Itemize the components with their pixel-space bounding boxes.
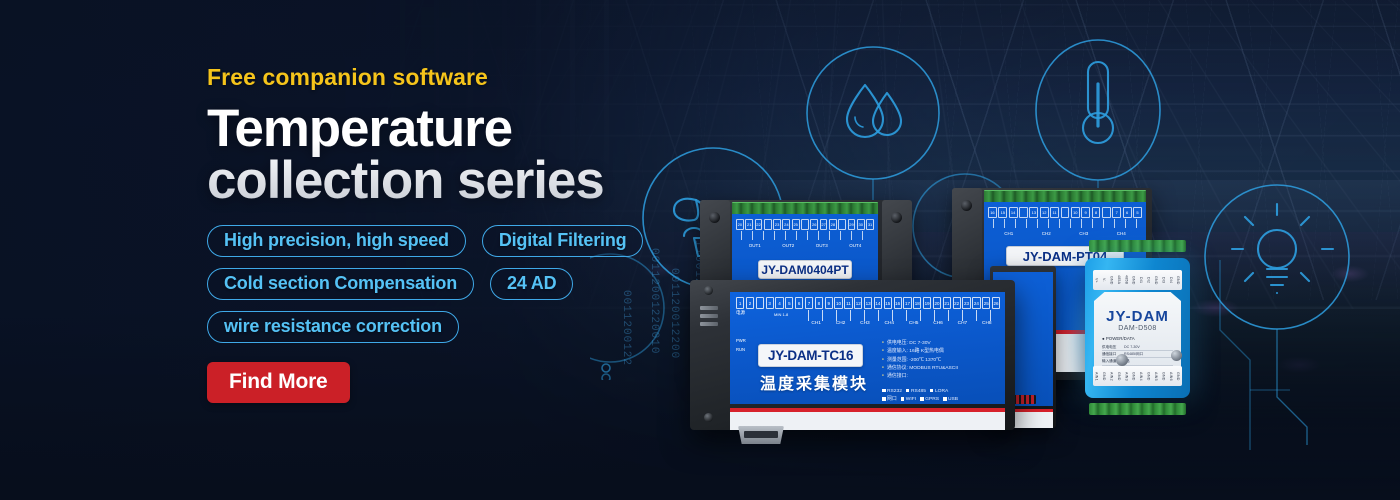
page-title: Temperature collection series [207, 103, 677, 207]
module-blue-faceplate: 1234567891011121314151617181920212223242… [730, 292, 1005, 404]
spec-key-4: 通信接口: [887, 374, 908, 379]
find-more-button[interactable]: Find More [207, 362, 350, 403]
spec-key-2: 测量范围: [887, 358, 908, 363]
module-indicator-labels: PWRRUN [736, 336, 746, 354]
spec-val-1: 16路 K型热电偶 [909, 349, 944, 354]
feature-tag-high-precision[interactable]: High precision, high speed [207, 225, 466, 257]
module-dam-tc16: 1234567891011121314151617181920212223242… [690, 280, 1015, 430]
module-db9-connector [738, 426, 784, 444]
module-channel-labels: CH1CH2CH3CH4 [990, 229, 1140, 237]
feature-tag-list: High precision, high speed Digital Filte… [207, 225, 677, 343]
headline-line-2: collection series [207, 155, 677, 207]
module-power-label: 电源 [736, 310, 745, 316]
banner-copy: Free companion software Temperature coll… [207, 66, 677, 403]
spec-val-2: -200℃ 1370℃ [909, 358, 941, 363]
module-green-terminal-top [1089, 240, 1186, 252]
module-brand-label: JY-DAM [1094, 308, 1181, 325]
spec-key-1: 温度输入: [887, 349, 908, 354]
module-terminal-labels-top: V+V-GND485A485BGNDDI1DI2GNDDI3DI4GND [1093, 270, 1182, 290]
module-button-left[interactable] [1116, 354, 1128, 366]
spec-val-0: DC 7-30V [909, 341, 930, 346]
module-power-indicator-label: ● POWER/DATA [1102, 336, 1135, 341]
module-model-label: JY-DAM0404PT [758, 260, 852, 279]
feature-tag-cold-section-compensation[interactable]: Cold section Compensation [207, 268, 474, 300]
eyebrow-text: Free companion software [207, 66, 677, 89]
module-terminal-numbers: 202122232425262728293031 [736, 219, 874, 230]
promo-banner: 00112001220010 001120012200 110012200100… [0, 0, 1400, 500]
module-green-terminal-block [984, 190, 1146, 202]
feature-tag-wire-resistance-correction[interactable]: wire resistance correction [207, 311, 459, 343]
module-channel-labels: OUT1OUT2OUT3OUT4 [738, 241, 872, 249]
module-dam-d508: V+V-GND485A485BGNDDI1DI2GNDDI3DI4GND JY-… [1085, 240, 1190, 415]
module-chassis: V+V-GND485A485BGNDDI1DI2GNDDI3DI4GND JY-… [1085, 258, 1190, 398]
feature-tag-row: wire resistance correction [207, 311, 677, 343]
d508-v6: -20℃ to +70℃ [1124, 388, 1148, 393]
feature-tag-row: High precision, high speed Digital Filte… [207, 225, 677, 257]
module-dip-label: MIN 1-8 [774, 312, 788, 317]
spec-val-3: MODBUS RTU&ASCII [909, 366, 958, 371]
module-green-terminal-bottom [1089, 403, 1186, 415]
module-button-right[interactable] [1171, 350, 1182, 361]
module-terminal-numbers: 1234567891011121314151617181920212223242… [736, 297, 1000, 309]
module-terminal-numbers: 1615141312111098765 [988, 207, 1142, 218]
module-model-label-cn: 温度采集模块 [760, 370, 868, 394]
module-green-terminal-block [732, 202, 878, 214]
feature-tag-row: Cold section Compensation 24 AD [207, 268, 677, 300]
module-relay-symbols [738, 231, 872, 240]
d508-k6: 工作温度 [1102, 388, 1124, 393]
spec-key-3: 通信协议: [887, 366, 908, 371]
spec-key-0: 供电电压: [887, 341, 908, 346]
module-thermocouple-symbols [804, 310, 999, 321]
module-relay-symbols [990, 219, 1140, 228]
d508-k0: 供电电压 [1102, 345, 1124, 350]
module-status-leds [700, 306, 718, 330]
headline-line-1: Temperature [207, 99, 512, 158]
feature-tag-24-ad[interactable]: 24 AD [490, 268, 573, 300]
feature-tag-digital-filtering[interactable]: Digital Filtering [482, 225, 644, 257]
module-spec-list: 供电电压: DC 7-30V 温度输入: 16路 K型热电偶 测量范围: -20… [882, 340, 997, 382]
module-terminal-labels-bottom: AIN1GNDAIN2GNDAIN3GNDAIN4GNDAIN5GNDAIN6G… [1093, 366, 1182, 386]
d508-v0: DC 7-30V [1124, 345, 1140, 350]
module-model-label: JY-DAM-TC16 [758, 344, 863, 367]
module-interface-checkboxes: RS232RS485LORA 网口WIFIGPRSUSB [882, 388, 997, 404]
product-module-group: 202122232425262728293031 OUT1OUT2OUT3OUT… [690, 170, 1250, 470]
module-model-label: DAM-D508 [1094, 325, 1181, 332]
module-channel-labels: CH1CH2CH3CH4CH5CH6CH7CH8 [804, 321, 999, 329]
